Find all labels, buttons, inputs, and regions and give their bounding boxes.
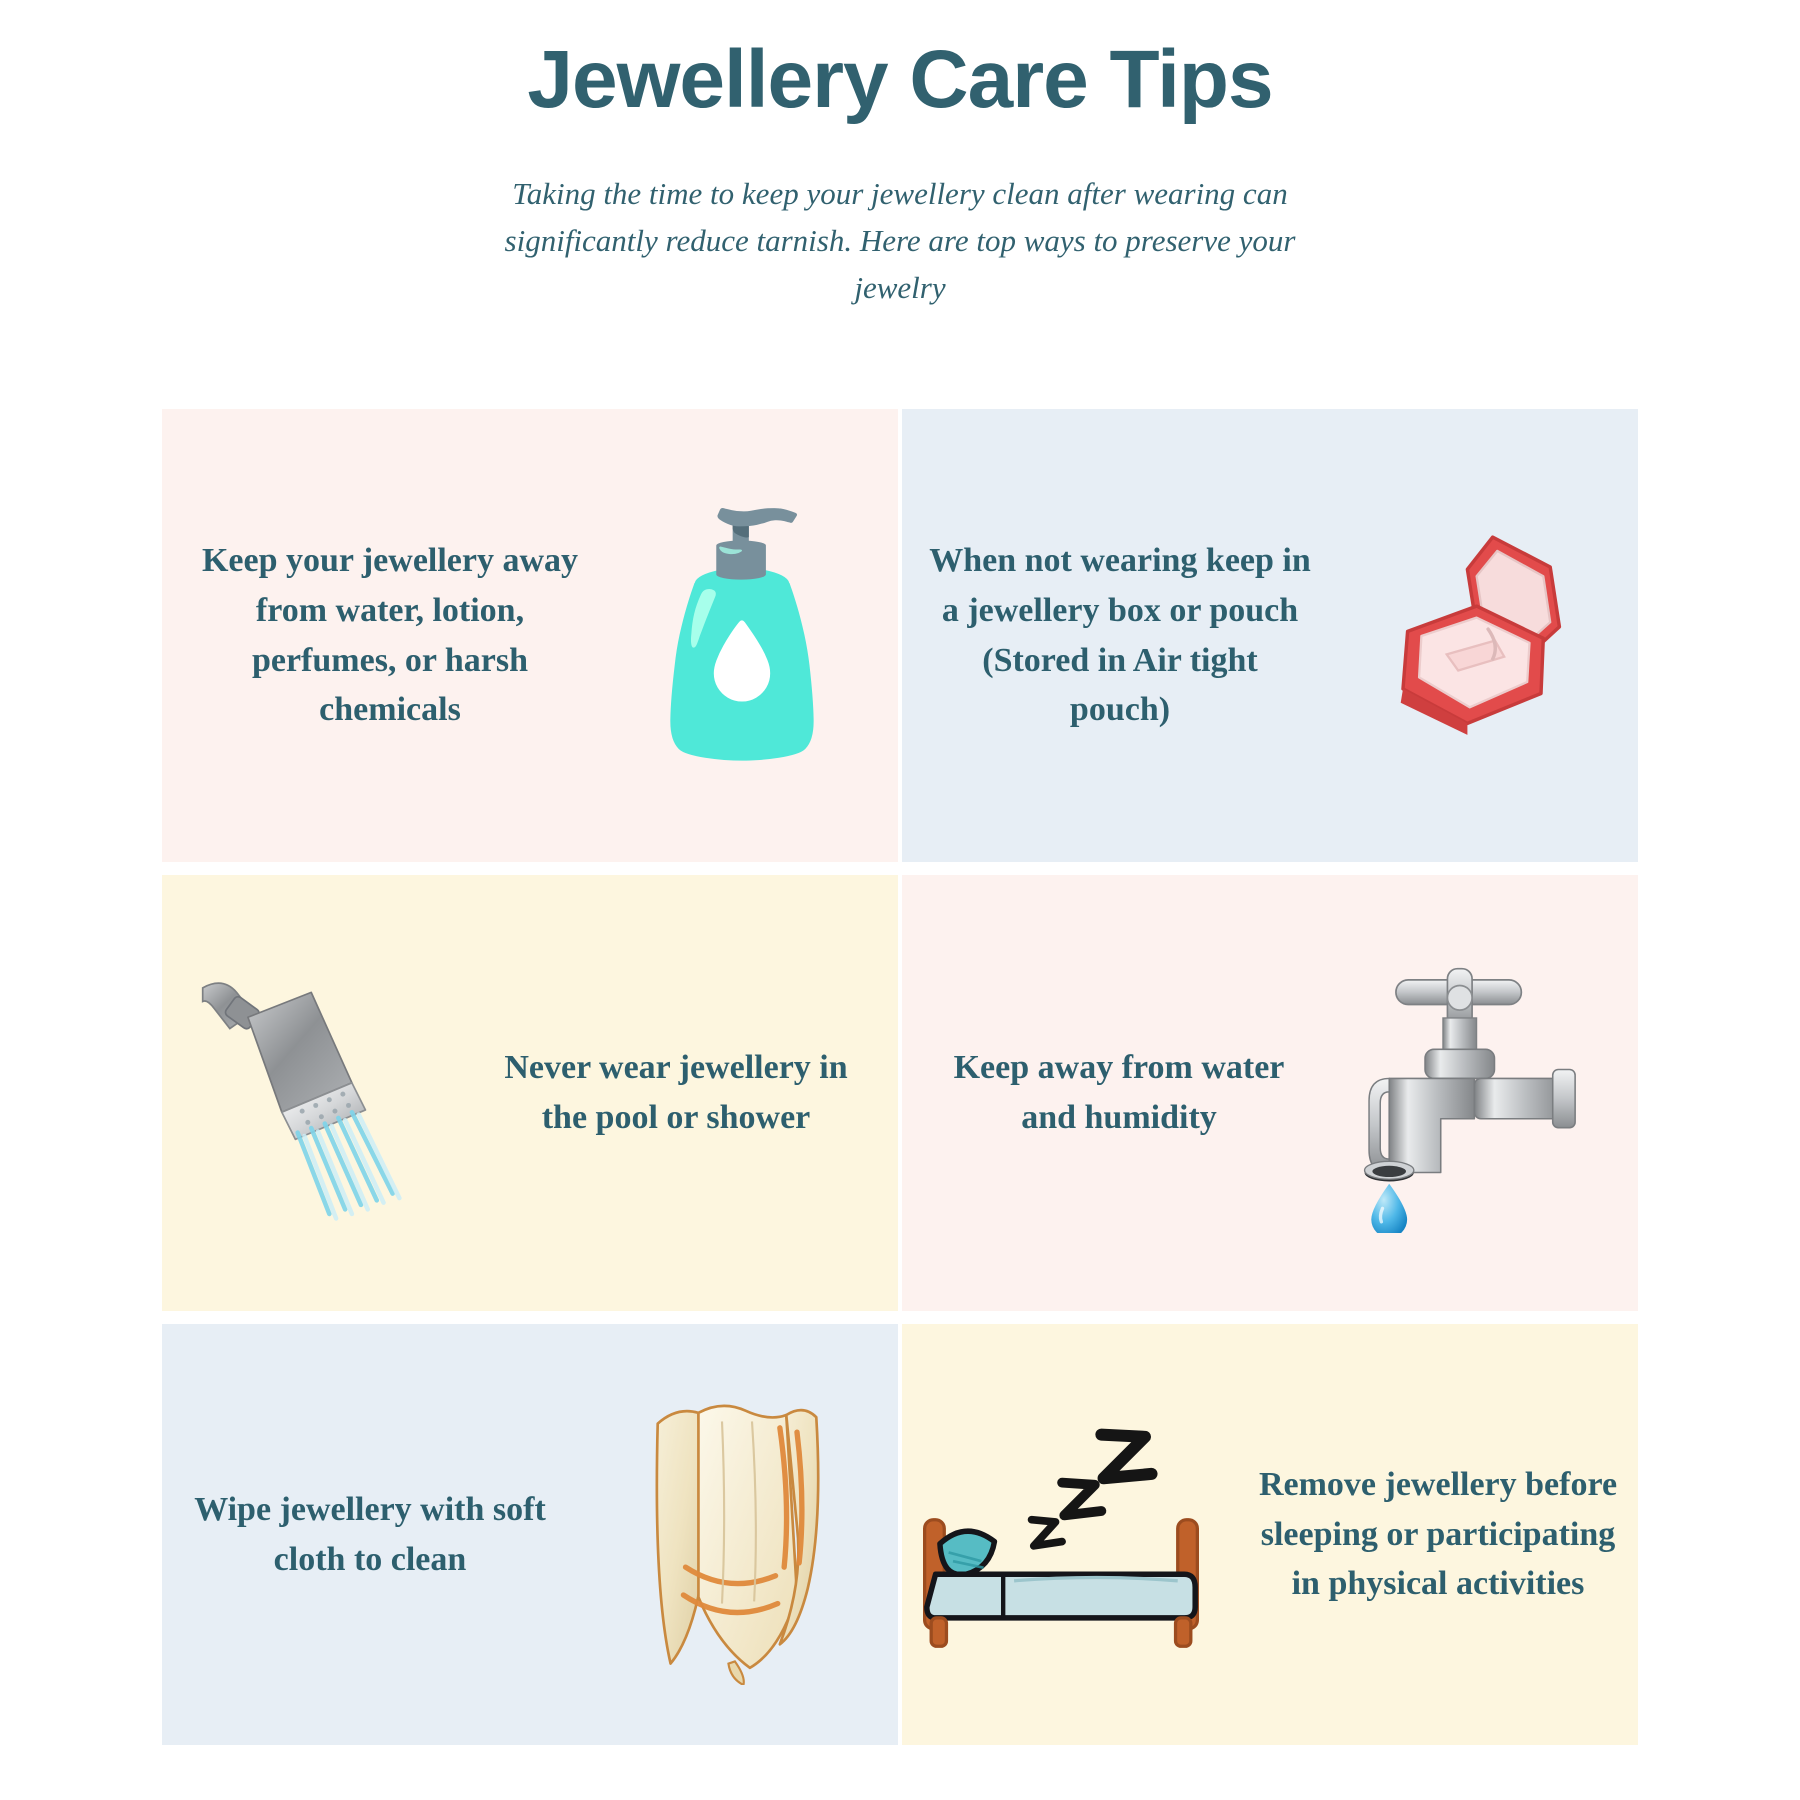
tip-card-6[interactable]: Remove jewellery before sleeping or part… <box>902 1324 1638 1745</box>
tip-card-2-label: When not wearing keep in a jewellery box… <box>902 536 1322 736</box>
bed-sleeping-icon <box>908 1415 1238 1655</box>
tip-card-2-figure <box>1322 409 1622 862</box>
tip-card-3-label: Never wear jewellery in the pool or show… <box>468 1043 898 1143</box>
tip-card-5-label: Wipe jewellery with soft cloth to clean <box>162 1485 582 1585</box>
tip-card-4-figure <box>1312 875 1612 1311</box>
perfume-bottle-icon: 🧴 <box>599 521 885 751</box>
cloth-handkerchief-icon <box>612 1385 862 1685</box>
ring-box-icon <box>1357 521 1587 751</box>
infographic-page: Jewellery Care Tips Taking the time to k… <box>0 0 1800 1800</box>
tip-card-3[interactable]: Never wear jewellery in the pool or show… <box>162 875 898 1311</box>
tip-card-5-figure <box>582 1324 892 1745</box>
header: Jewellery Care Tips Taking the time to k… <box>0 0 1800 311</box>
sleep-z-icon <box>1032 1434 1152 1545</box>
tip-card-4-label: Keep away from water and humidity <box>902 1043 1312 1143</box>
tip-card-1-label: Keep your jewellery away from water, lot… <box>162 536 592 736</box>
shower-head-icon <box>193 963 443 1223</box>
water-faucet-icon <box>1342 953 1582 1233</box>
page-title: Jewellery Care Tips <box>0 34 1800 126</box>
tips-grid: Keep your jewellery away from water, lot… <box>162 409 1638 1745</box>
tip-card-6-figure <box>908 1324 1238 1745</box>
tip-card-4[interactable]: Keep away from water and humidity <box>902 875 1638 1311</box>
tip-card-5[interactable]: Wipe jewellery with soft cloth to clean <box>162 1324 898 1745</box>
tip-card-3-figure <box>168 875 468 1311</box>
tip-card-6-label: Remove jewellery before sleeping or part… <box>1238 1460 1638 1610</box>
page-subtitle: Taking the time to keep your jewellery c… <box>500 170 1300 311</box>
tip-card-2[interactable]: When not wearing keep in a jewellery box… <box>902 409 1638 862</box>
tip-card-1[interactable]: Keep your jewellery away from water, lot… <box>162 409 898 862</box>
tip-card-1-figure: 🧴 <box>592 409 892 862</box>
